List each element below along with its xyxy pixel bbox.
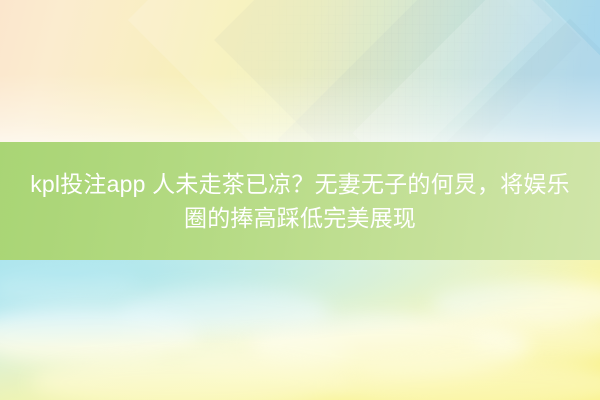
diagonal-facet-shape	[352, 0, 600, 142]
cloud-shape	[330, 360, 600, 400]
diagonal-facet-shape	[429, 19, 600, 142]
decorative-gradient-header	[0, 0, 600, 142]
headline-banner: kpl投注app 人未走茶已凉？无妻无子的何炅，将娱乐圈的捧高踩低完美展现	[0, 142, 600, 260]
cloud-shape	[0, 306, 200, 366]
diagonal-facet-shape	[214, 0, 582, 142]
cloud-shape	[470, 322, 600, 362]
sky-tint-overlay	[0, 260, 600, 400]
decorative-sky-footer	[0, 260, 600, 400]
cloud-shape	[120, 286, 330, 338]
halftone-texture-overlay	[230, 0, 600, 142]
banner-image: kpl投注app 人未走茶已凉？无妻无子的何炅，将娱乐圈的捧高踩低完美展现	[0, 0, 600, 400]
header-sheen-overlay	[0, 0, 600, 142]
diagonal-facet-shape	[128, 0, 552, 142]
cloud-shape	[250, 314, 530, 380]
cloud-shape	[30, 356, 350, 400]
headline-text: kpl投注app 人未走茶已凉？无妻无子的何炅，将娱乐圈的捧高踩低完美展现	[24, 167, 576, 235]
cloud-shape	[180, 334, 350, 374]
cloud-shape	[0, 268, 140, 302]
cloud-shape	[430, 280, 600, 328]
diagonal-facet-shape	[278, 0, 547, 142]
